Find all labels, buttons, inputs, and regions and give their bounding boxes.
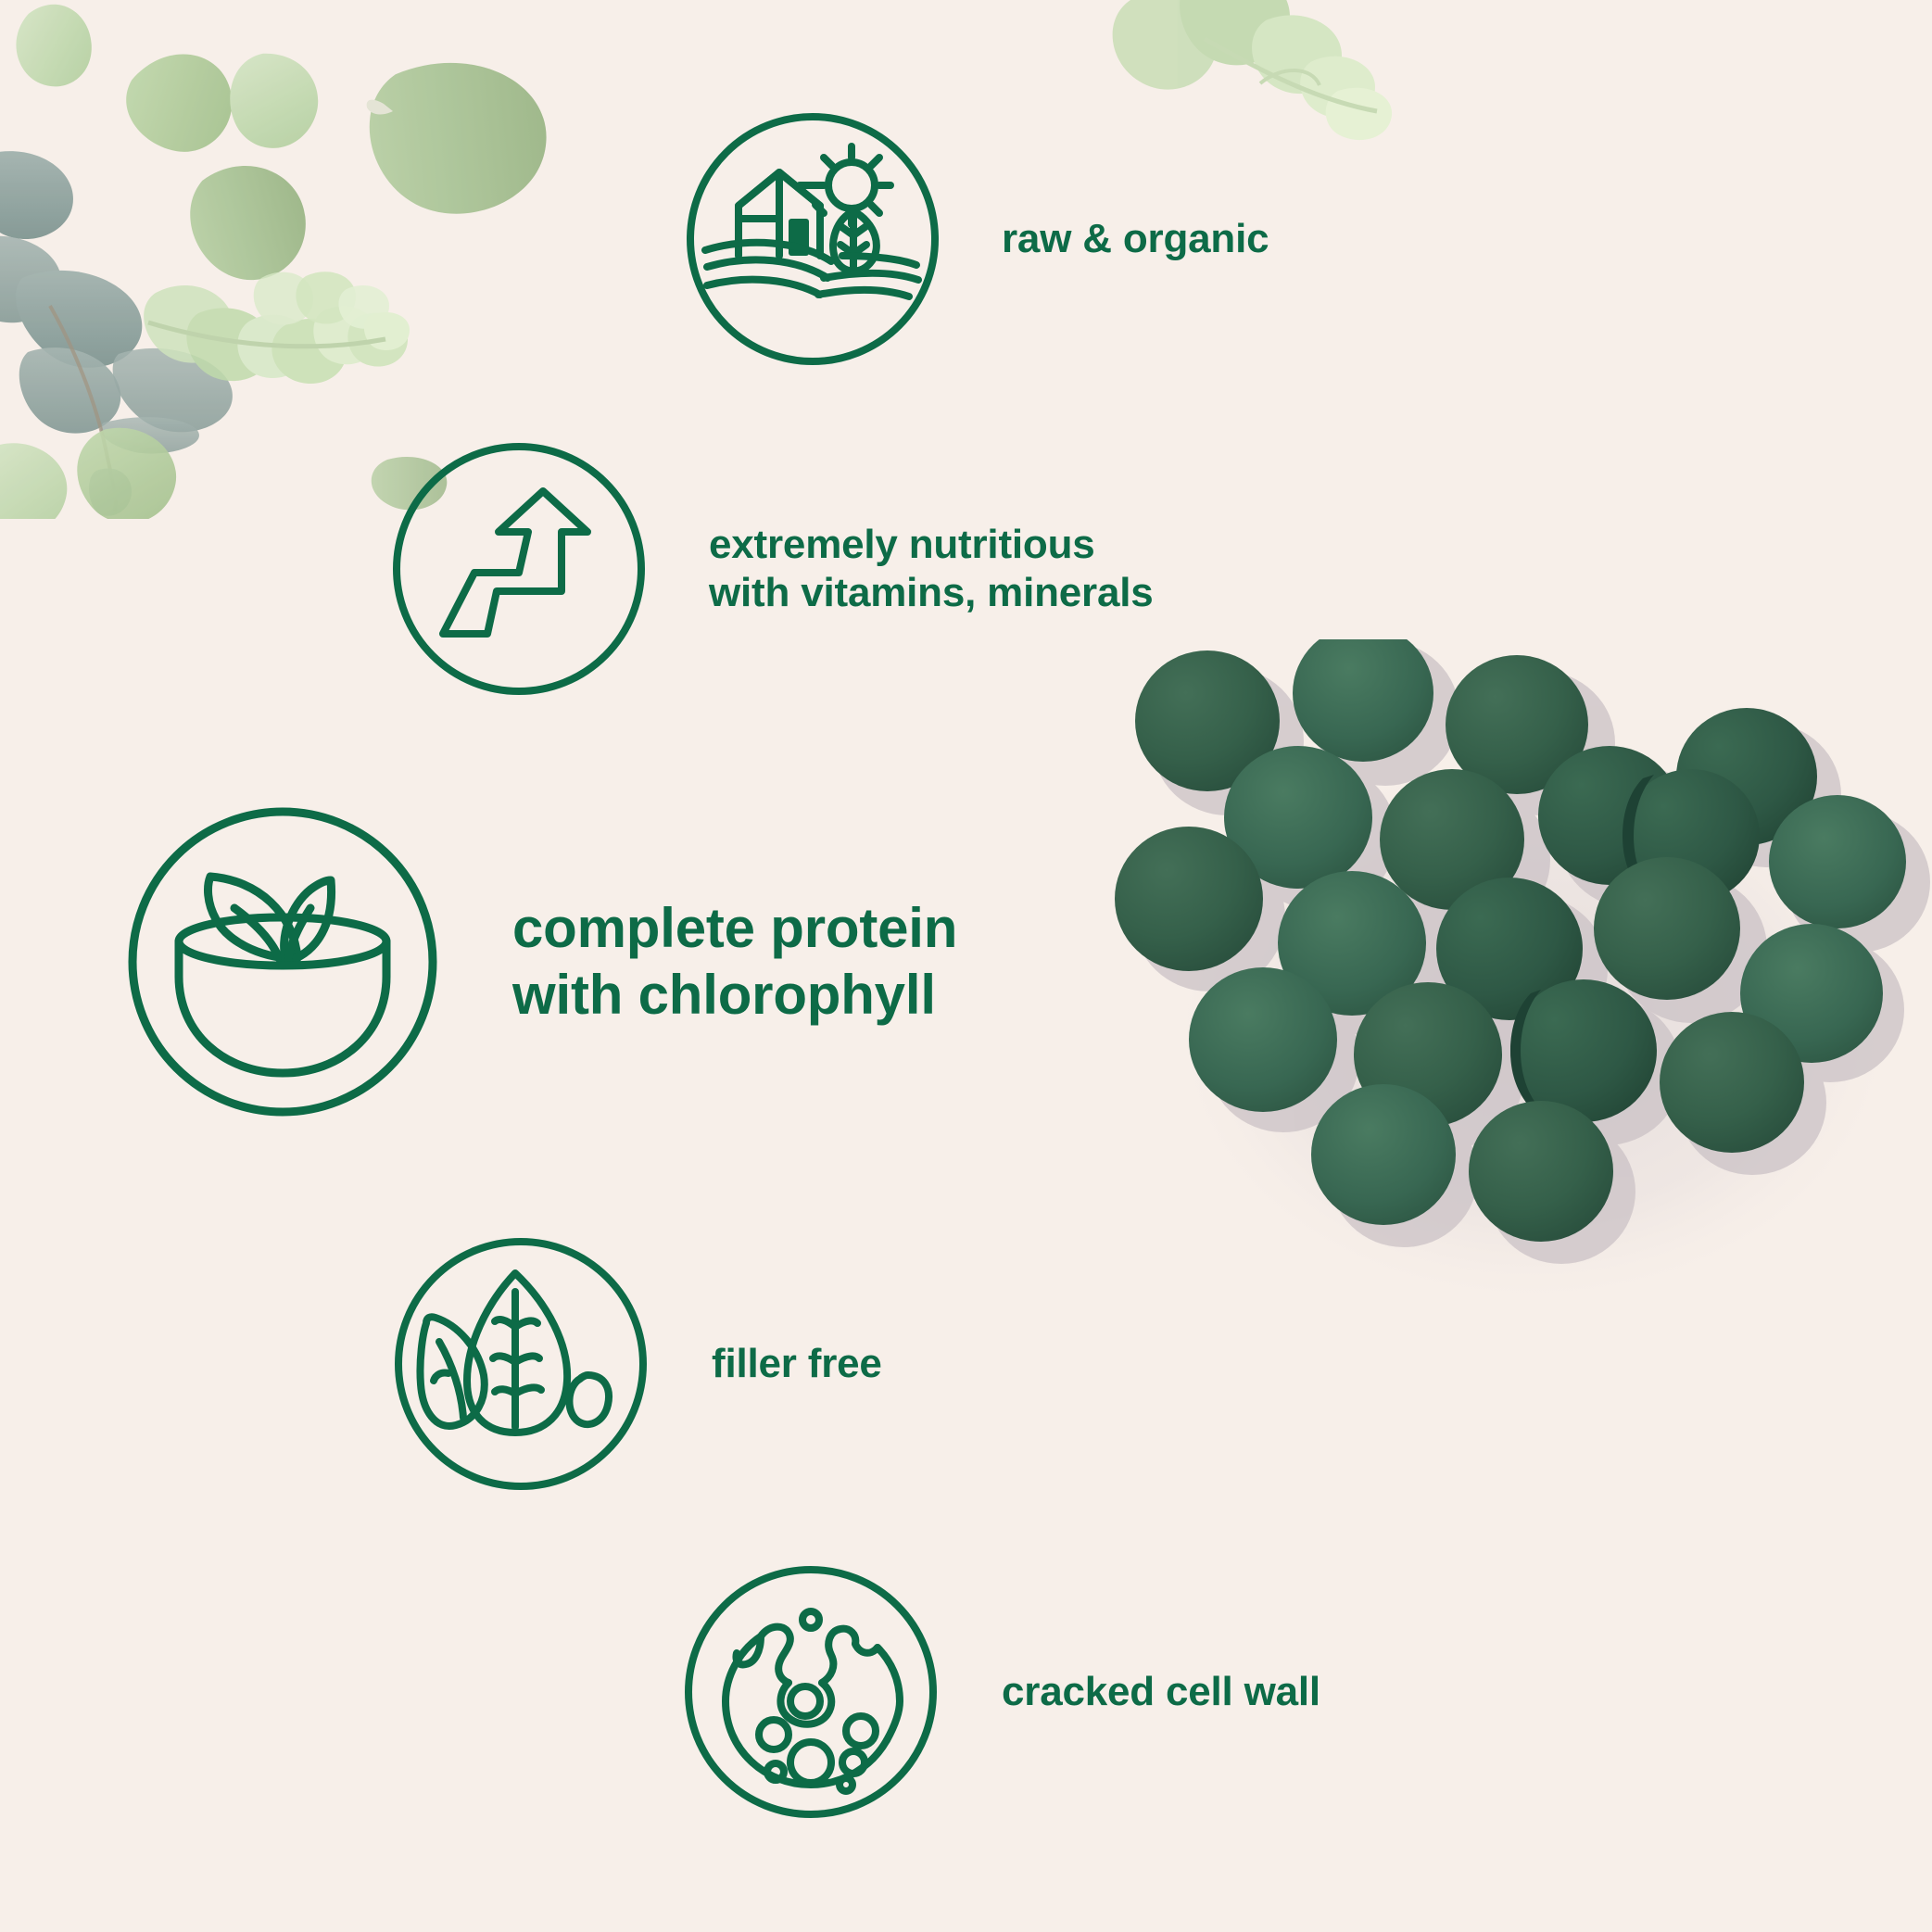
farm-house-sun-icon xyxy=(683,109,942,369)
feature-label-protein: complete protein with chlorophyll xyxy=(512,895,957,1029)
feature-row-filler-free: filler free xyxy=(391,1234,882,1494)
feature-label-cracked-cell: cracked cell wall xyxy=(1002,1668,1320,1716)
feature-row-cracked-cell: cracked cell wall xyxy=(681,1562,1320,1822)
feature-label-nutritious: extremely nutritious with vitamins, mine… xyxy=(709,521,1154,617)
upward-zigzag-arrow-icon xyxy=(389,439,649,699)
poster-canvas: raw & organic extremely nutritious with … xyxy=(0,0,1932,1932)
cracked-cell-wall-icon xyxy=(681,1562,941,1822)
feature-row-protein: complete protein with chlorophyll xyxy=(125,804,957,1119)
feature-row-raw-organic: raw & organic xyxy=(683,109,1269,369)
feature-row-nutritious: extremely nutritious with vitamins, mine… xyxy=(389,439,1154,699)
feature-label-filler-free: filler free xyxy=(712,1340,882,1388)
spirulina-tablets-photo xyxy=(1098,639,1932,1344)
bowl-with-leaves-icon xyxy=(125,804,440,1119)
feature-label-raw-organic: raw & organic xyxy=(1002,215,1269,263)
leaves-and-seed-icon xyxy=(391,1234,650,1494)
